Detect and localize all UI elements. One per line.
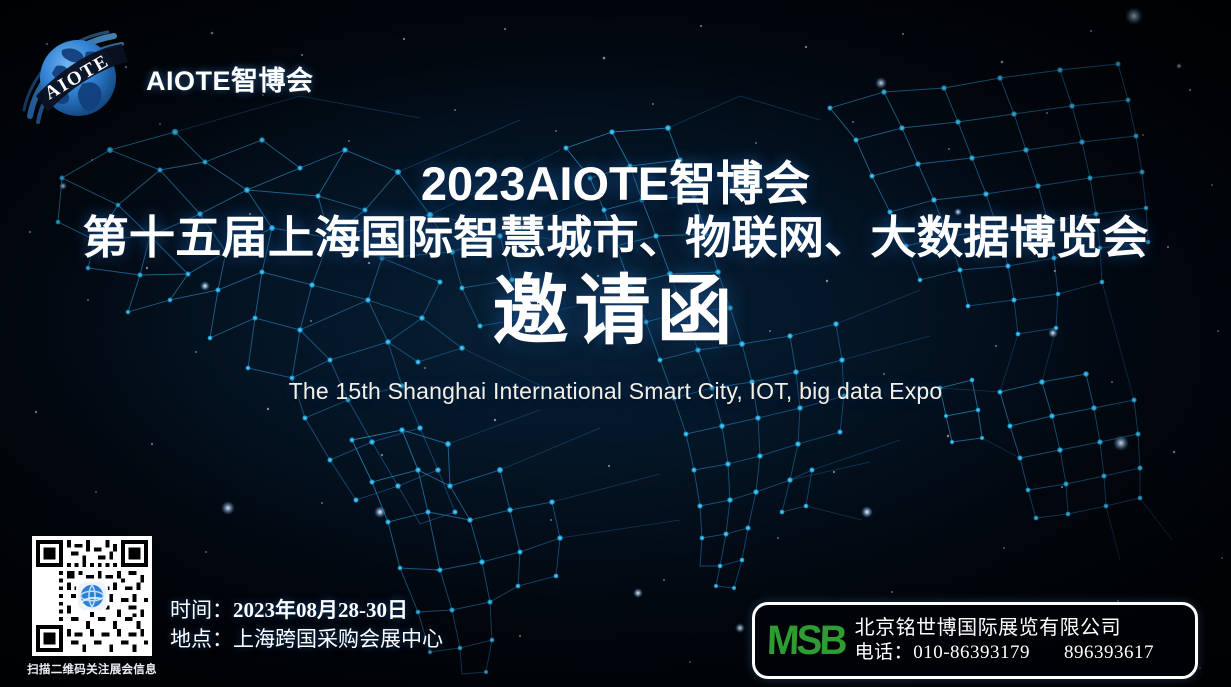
event-time-row: 时间：2023年08月28-30日 [170, 596, 443, 625]
company-phone-row: 电话：010-86393179896393617 [855, 641, 1154, 666]
aiote-globe-icon: AIOTE [18, 22, 136, 134]
company-phone-primary: 010-86393179 [913, 642, 1030, 663]
qr-caption: 扫描二维码关注展会信息 [26, 661, 158, 677]
company-text-group: 北京铭世博国际展览有限公司 电话：010-86393179896393617 [855, 615, 1154, 666]
event-info-block: 时间：2023年08月28-30日 地点：上海跨国采购会展中心 [170, 596, 443, 654]
event-time-label: 时间： [170, 598, 233, 622]
brand-name: AIOTE智博会 [146, 59, 314, 98]
company-phone-secondary: 896393617 [1064, 642, 1154, 663]
qr-block: 扫描二维码关注展会信息 [26, 536, 158, 677]
title-block: 2023AIOTE智博会 第十五届上海国际智慧城市、物联网、大数据博览会 邀请函… [0, 160, 1231, 405]
company-info-box: MSB 北京铭世博国际展览有限公司 电话：010-863931798963936… [752, 602, 1198, 679]
event-place-row: 地点：上海跨国采购会展中心 [170, 625, 443, 654]
msb-logo: MSB [766, 620, 845, 661]
qr-code-icon[interactable] [32, 536, 152, 656]
invitation-poster: AIOTE AIOTE智博会 2023AIOTE智博会 第十五届上海国际智慧城市… [0, 0, 1231, 687]
company-name: 北京铭世博国际展览有限公司 [855, 615, 1154, 641]
event-time-value: 2023年08月28-30日 [233, 598, 408, 622]
event-place-label: 地点： [170, 627, 233, 651]
title-invitation: 邀请函 [0, 272, 1231, 352]
globe-icon [78, 582, 106, 610]
company-phone-label: 电话： [855, 642, 914, 663]
event-place-value: 上海跨国采购会展中心 [233, 627, 443, 651]
title-line-2: 第十五届上海国际智慧城市、物联网、大数据博览会 [0, 210, 1231, 266]
title-line-1: 2023AIOTE智博会 [0, 160, 1231, 208]
subtitle-english: The 15th Shanghai International Smart Ci… [0, 378, 1231, 405]
brand-logo-group: AIOTE AIOTE智博会 [18, 22, 314, 134]
